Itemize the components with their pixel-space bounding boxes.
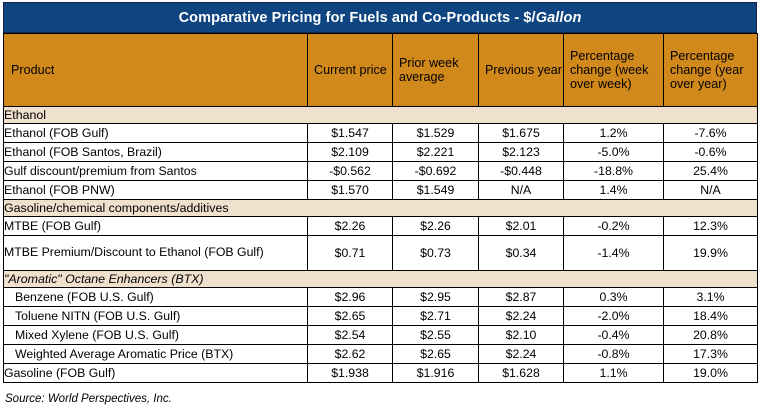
cell-current-price: -$0.562 bbox=[308, 162, 393, 181]
cell-pct-change-week: 0.3% bbox=[564, 288, 664, 307]
cell-current-price: $0.71 bbox=[308, 236, 393, 271]
cell-previous-year: -$0.448 bbox=[479, 162, 564, 181]
cell-current-price: $1.938 bbox=[308, 364, 393, 383]
cell-prior-week-average: $0.73 bbox=[393, 236, 479, 271]
cell-prior-week-average: $1.529 bbox=[393, 124, 479, 143]
cell-pct-change-year: 19.9% bbox=[664, 236, 758, 271]
cell-pct-change-year: 19.0% bbox=[664, 364, 758, 383]
cell-pct-change-week: 1.4% bbox=[564, 181, 664, 200]
table-row: Mixed Xylene (FOB U.S. Gulf)$2.54$2.55$2… bbox=[4, 326, 758, 345]
cell-pct-change-year: -7.6% bbox=[664, 124, 758, 143]
table-row: Gulf discount/premium from Santos-$0.562… bbox=[4, 162, 758, 181]
cell-product: Benzene (FOB U.S. Gulf) bbox=[4, 288, 308, 307]
cell-pct-change-year: -0.6% bbox=[664, 143, 758, 162]
cell-current-price: $2.65 bbox=[308, 307, 393, 326]
cell-pct-change-week: -0.4% bbox=[564, 326, 664, 345]
section-header-label: Gasoline/chemical components/additives bbox=[4, 200, 758, 217]
cell-previous-year: $1.628 bbox=[479, 364, 564, 383]
cell-pct-change-week: 1.1% bbox=[564, 364, 664, 383]
column-header-current-price: Current price bbox=[308, 34, 393, 107]
table-header: Product Current price Prior week average… bbox=[4, 34, 758, 107]
table-row: Ethanol (FOB Santos, Brazil)$2.109$2.221… bbox=[4, 143, 758, 162]
document-title-bar: Comparative Pricing for Fuels and Co-Pro… bbox=[3, 2, 757, 33]
cell-prior-week-average: -$0.692 bbox=[393, 162, 479, 181]
section-header-label: Ethanol bbox=[4, 107, 758, 124]
table-row: Gasoline (FOB Gulf)$1.938$1.916$1.6281.1… bbox=[4, 364, 758, 383]
cell-current-price: $2.54 bbox=[308, 326, 393, 345]
cell-product: MTBE Premium/Discount to Ethanol (FOB Gu… bbox=[4, 236, 308, 271]
cell-pct-change-week: -5.0% bbox=[564, 143, 664, 162]
cell-current-price: $2.96 bbox=[308, 288, 393, 307]
table-row: MTBE Premium/Discount to Ethanol (FOB Gu… bbox=[4, 236, 758, 271]
cell-pct-change-year: 17.3% bbox=[664, 345, 758, 364]
cell-current-price: $2.109 bbox=[308, 143, 393, 162]
cell-prior-week-average: $2.55 bbox=[393, 326, 479, 345]
page-title: Comparative Pricing for Fuels and Co-Pro… bbox=[179, 10, 582, 26]
cell-prior-week-average: $2.65 bbox=[393, 345, 479, 364]
table-row: Benzene (FOB U.S. Gulf)$2.96$2.95$2.870.… bbox=[4, 288, 758, 307]
section-header-row: Gasoline/chemical components/additives bbox=[4, 200, 758, 217]
pricing-table-document: Comparative Pricing for Fuels and Co-Pro… bbox=[0, 0, 765, 412]
cell-previous-year: $1.675 bbox=[479, 124, 564, 143]
cell-product: Ethanol (FOB Santos, Brazil) bbox=[4, 143, 308, 162]
cell-product: Gulf discount/premium from Santos bbox=[4, 162, 308, 181]
cell-prior-week-average: $2.95 bbox=[393, 288, 479, 307]
table-row: Ethanol (FOB PNW)$1.570$1.549N/A1.4%N/A bbox=[4, 181, 758, 200]
page-title-emphasis: Gallon bbox=[536, 10, 582, 26]
page-title-main: Comparative Pricing for Fuels and Co-Pro… bbox=[179, 10, 536, 26]
column-header-prior-week-average: Prior week average bbox=[393, 34, 479, 107]
cell-pct-change-week: -2.0% bbox=[564, 307, 664, 326]
cell-current-price: $2.62 bbox=[308, 345, 393, 364]
section-header-row: Ethanol bbox=[4, 107, 758, 124]
cell-product: Ethanol (FOB PNW) bbox=[4, 181, 308, 200]
cell-previous-year: $2.123 bbox=[479, 143, 564, 162]
cell-pct-change-week: 1.2% bbox=[564, 124, 664, 143]
pricing-table: Product Current price Prior week average… bbox=[3, 33, 758, 383]
cell-product: MTBE (FOB Gulf) bbox=[4, 217, 308, 236]
cell-prior-week-average: $1.549 bbox=[393, 181, 479, 200]
cell-current-price: $2.26 bbox=[308, 217, 393, 236]
cell-previous-year: $2.10 bbox=[479, 326, 564, 345]
cell-previous-year: $2.87 bbox=[479, 288, 564, 307]
cell-previous-year: N/A bbox=[479, 181, 564, 200]
cell-pct-change-year: 12.3% bbox=[664, 217, 758, 236]
cell-prior-week-average: $2.71 bbox=[393, 307, 479, 326]
section-header-row: "Aromatic" Octane Enhancers (BTX) bbox=[4, 271, 758, 288]
table-row: Weighted Average Aromatic Price (BTX)$2.… bbox=[4, 345, 758, 364]
cell-prior-week-average: $2.221 bbox=[393, 143, 479, 162]
table-row: Toluene NITN (FOB U.S. Gulf)$2.65$2.71$2… bbox=[4, 307, 758, 326]
column-header-pct-change-week: Percentage change (week over week) bbox=[564, 34, 664, 107]
cell-product: Mixed Xylene (FOB U.S. Gulf) bbox=[4, 326, 308, 345]
cell-pct-change-week: -18.8% bbox=[564, 162, 664, 181]
cell-previous-year: $2.24 bbox=[479, 307, 564, 326]
cell-product: Ethanol (FOB Gulf) bbox=[4, 124, 308, 143]
cell-pct-change-year: N/A bbox=[664, 181, 758, 200]
cell-previous-year: $0.34 bbox=[479, 236, 564, 271]
table-header-row: Product Current price Prior week average… bbox=[4, 34, 758, 107]
cell-prior-week-average: $2.26 bbox=[393, 217, 479, 236]
cell-previous-year: $2.24 bbox=[479, 345, 564, 364]
cell-previous-year: $2.01 bbox=[479, 217, 564, 236]
cell-current-price: $1.570 bbox=[308, 181, 393, 200]
cell-product: Gasoline (FOB Gulf) bbox=[4, 364, 308, 383]
column-header-previous-year: Previous year bbox=[479, 34, 564, 107]
column-header-product: Product bbox=[4, 34, 308, 107]
table-body: EthanolEthanol (FOB Gulf)$1.547$1.529$1.… bbox=[4, 107, 758, 383]
cell-pct-change-year: 25.4% bbox=[664, 162, 758, 181]
cell-pct-change-year: 3.1% bbox=[664, 288, 758, 307]
section-header-label: "Aromatic" Octane Enhancers (BTX) bbox=[4, 271, 758, 288]
source-note: Source: World Perspectives, Inc. bbox=[5, 393, 172, 405]
cell-product: Toluene NITN (FOB U.S. Gulf) bbox=[4, 307, 308, 326]
table-row: Ethanol (FOB Gulf)$1.547$1.529$1.6751.2%… bbox=[4, 124, 758, 143]
cell-pct-change-year: 18.4% bbox=[664, 307, 758, 326]
cell-prior-week-average: $1.916 bbox=[393, 364, 479, 383]
cell-product: Weighted Average Aromatic Price (BTX) bbox=[4, 345, 308, 364]
cell-pct-change-year: 20.8% bbox=[664, 326, 758, 345]
cell-pct-change-week: -0.8% bbox=[564, 345, 664, 364]
column-header-pct-change-year: Percentage change (year over year) bbox=[664, 34, 758, 107]
cell-current-price: $1.547 bbox=[308, 124, 393, 143]
cell-pct-change-week: -0.2% bbox=[564, 217, 664, 236]
cell-pct-change-week: -1.4% bbox=[564, 236, 664, 271]
table-row: MTBE (FOB Gulf)$2.26$2.26$2.01-0.2%12.3% bbox=[4, 217, 758, 236]
